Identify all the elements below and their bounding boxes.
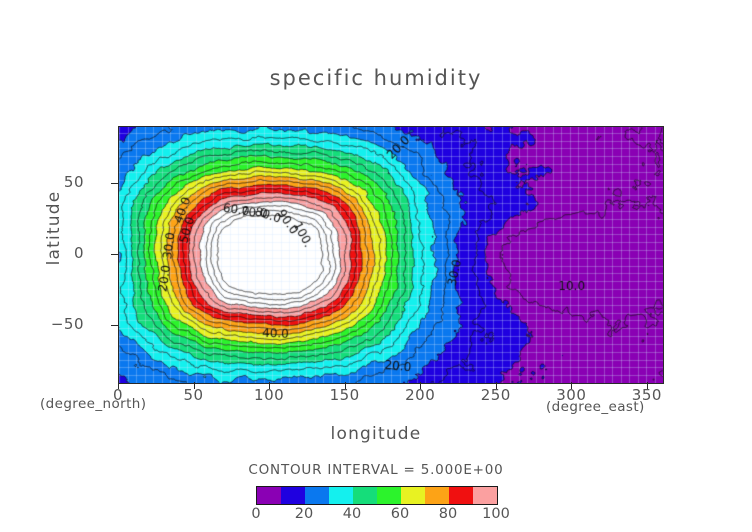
colorbar-ticks: 020406080100 [256,506,496,526]
x-tick-mark [571,382,572,389]
colorbar-tick-label: 0 [231,506,281,522]
plot-area [118,126,664,384]
colorbar-band [305,487,329,504]
colorbar-band [281,487,305,504]
y-tick-mark [111,325,118,326]
colorbar-tick-label: 100 [471,506,521,522]
colorbar-tick-label: 80 [423,506,473,522]
colorbar-band [449,487,473,504]
x-tick-mark [269,382,270,389]
contour-field-canvas [119,127,663,383]
x-tick-mark [647,382,648,389]
colorbar-band [425,487,449,504]
colorbar-band [257,487,281,504]
colorbar-band [353,487,377,504]
contour-interval-caption: CONTOUR INTERVAL = 5.000E+00 [0,462,752,478]
colorbar-band [401,487,425,504]
chart-title: specific humidity [0,66,752,90]
colorbar-tick-label: 20 [279,506,329,522]
x-tick-mark [420,382,421,389]
colorbar [256,486,498,505]
x-tick-mark [118,382,119,389]
y-tick-label: 50 [24,173,84,191]
colorbar-band [473,487,497,504]
colorbar-tick-label: 40 [327,506,377,522]
y-tick-mark [111,254,118,255]
colorbar-tick-label: 60 [375,506,425,522]
x-tick-mark [194,382,195,389]
y-tick-mark [111,183,118,184]
y-tick-label: −50 [24,315,84,333]
x-axis-label: longitude [0,424,752,444]
x-tick-mark [345,382,346,389]
y-tick-label: 0 [24,244,84,262]
colorbar-band [329,487,353,504]
colorbar-band [377,487,401,504]
chart-figure: specific humidity latitude (degree_north… [0,0,752,532]
x-tick-mark [496,382,497,389]
